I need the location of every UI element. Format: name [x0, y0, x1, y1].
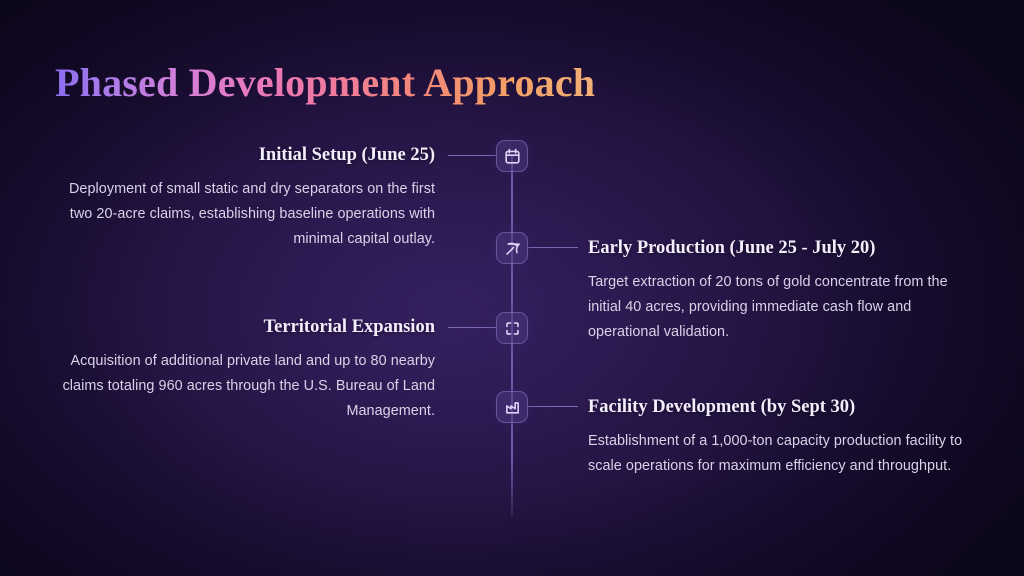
timeline-block-territorial-expansion: Territorial Expansion Acquisition of add…: [43, 315, 435, 424]
block-title-territorial-expansion: Territorial Expansion: [43, 315, 435, 339]
expand-icon: [504, 320, 521, 337]
page-title: Phased Development Approach: [55, 59, 595, 107]
timeline-block-initial-setup: Initial Setup (June 25) Deployment of sm…: [43, 143, 435, 252]
pickaxe-icon: [504, 240, 521, 257]
timeline-block-facility-development: Facility Development (by Sept 30) Establ…: [588, 395, 980, 479]
block-title-initial-setup: Initial Setup (June 25): [43, 143, 435, 167]
connector-territorial-expansion: [448, 327, 496, 328]
block-body-early-production: Target extraction of 20 tons of gold con…: [588, 270, 980, 345]
timeline-node-initial-setup[interactable]: [496, 140, 528, 172]
block-body-territorial-expansion: Acquisition of additional private land a…: [43, 349, 435, 424]
block-body-facility-development: Establishment of a 1,000-ton capacity pr…: [588, 429, 980, 479]
timeline-node-territorial-expansion[interactable]: [496, 312, 528, 344]
block-body-initial-setup: Deployment of small static and dry separ…: [43, 177, 435, 252]
timeline-node-facility-development[interactable]: [496, 391, 528, 423]
connector-early-production: [528, 247, 578, 248]
connector-initial-setup: [448, 155, 496, 156]
block-title-facility-development: Facility Development (by Sept 30): [588, 395, 980, 419]
factory-icon: [504, 399, 521, 416]
timeline-node-early-production[interactable]: [496, 232, 528, 264]
slide-canvas: Phased Development Approach Initial Setu…: [0, 0, 1024, 576]
calendar-icon: [504, 148, 521, 165]
connector-facility-development: [528, 406, 578, 407]
block-title-early-production: Early Production (June 25 - July 20): [588, 236, 980, 260]
timeline-block-early-production: Early Production (June 25 - July 20) Tar…: [588, 236, 980, 345]
